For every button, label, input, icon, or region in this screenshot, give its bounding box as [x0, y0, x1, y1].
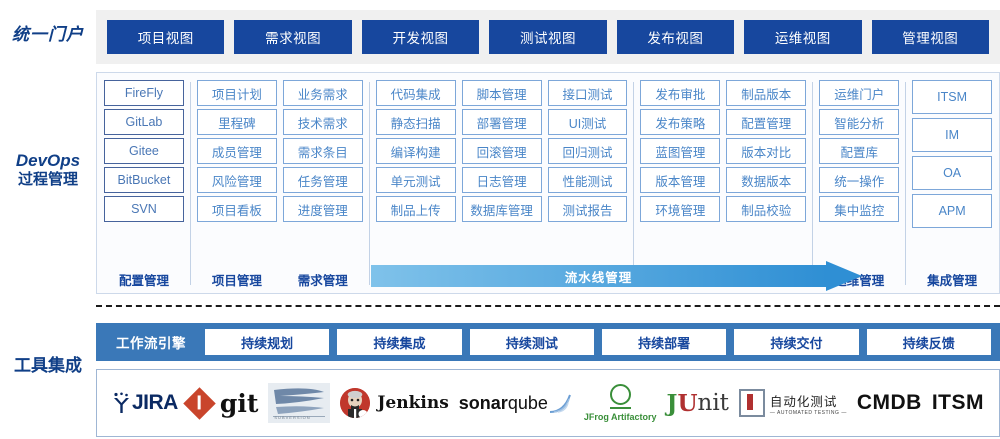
grid-cell[interactable]: SVN	[104, 196, 184, 222]
grid-column-release-management: 发布审批 发布策略 蓝图管理 版本管理 环境管理 发布管理	[637, 80, 723, 289]
subversion-logo: SUBVERSION	[268, 380, 330, 426]
grid-cell[interactable]: 回归测试	[548, 138, 628, 164]
itsm-logo: ITSM	[932, 380, 984, 426]
grid-cell[interactable]: 部署管理	[462, 109, 542, 135]
workflow-stage-continuous-integration[interactable]: 持续集成	[337, 329, 461, 355]
jfrog-ring-icon	[610, 384, 631, 405]
section-label-portal: 统一门户	[0, 24, 96, 45]
automated-testing-logo-subtext: — AUTOMATED TESTING —	[770, 410, 847, 416]
grid-column-requirement-management: 业务需求 技术需求 需求条目 任务管理 进度管理 需求管理	[280, 80, 366, 289]
workflow-stage-continuous-feedback[interactable]: 持续反馈	[867, 329, 991, 355]
grid-cell[interactable]: BitBucket	[104, 167, 184, 193]
grid-cell[interactable]: 编译构建	[376, 138, 456, 164]
tools-label-text: 工具集成	[0, 355, 96, 376]
grid-column-ct-pipeline: 接口测试 UI测试 回归测试 性能测试 测试报告 CT流水线	[545, 80, 631, 289]
pipeline-management-arrow: 流水线管理	[371, 265, 862, 287]
portal-label-text: 统一门户	[0, 24, 96, 45]
grid-cell[interactable]: 接口测试	[548, 80, 628, 106]
column-group-separator	[190, 82, 191, 285]
column-group-separator	[369, 82, 370, 285]
grid-column-cd-pipeline: 脚本管理 部署管理 回滚管理 日志管理 数据库管理 CD流水线	[459, 80, 545, 289]
git-logo: git	[188, 380, 259, 426]
section-label-tools: 工具集成	[0, 355, 96, 376]
junit-j: J	[667, 390, 678, 417]
grid-column-project-management: 项目计划 里程碑 成员管理 风险管理 项目看板 项目管理	[194, 80, 280, 289]
grid-cell[interactable]: 数据版本	[726, 167, 806, 193]
sonarqube-bold-part: sonar	[459, 393, 508, 413]
portal-view-button-operations[interactable]: 运维视图	[744, 20, 861, 54]
grid-cell[interactable]: 统一操作	[819, 167, 899, 193]
grid-cell[interactable]: 项目计划	[197, 80, 277, 106]
devops-label-line1: DevOps	[0, 150, 96, 171]
cmdb-logo: CMDB	[857, 380, 922, 426]
jfrog-bar-icon	[610, 407, 631, 409]
grid-cell[interactable]: UI测试	[548, 109, 628, 135]
grid-cell[interactable]: 静态扫描	[376, 109, 456, 135]
jfrog-logo-text: JFrog Artifactory	[584, 412, 657, 422]
git-diamond-icon	[183, 387, 216, 420]
grid-cell[interactable]: 制品上传	[376, 196, 456, 222]
grid-cell[interactable]: 任务管理	[283, 167, 363, 193]
workflow-engine-bar: 工作流引擎 持续规划 持续集成 持续测试 持续部署 持续交付 持续反馈	[96, 323, 1000, 361]
portal-view-button-management[interactable]: 管理视图	[872, 20, 989, 54]
jenkins-logo-text: Jenkins	[377, 393, 448, 413]
grid-cell[interactable]: 版本对比	[726, 138, 806, 164]
workflow-stage-continuous-delivery[interactable]: 持续交付	[734, 329, 858, 355]
arrow-head-icon	[826, 261, 862, 291]
grid-cell[interactable]: 需求条目	[283, 138, 363, 164]
grid-cell[interactable]: 集中监控	[819, 196, 899, 222]
grid-cell[interactable]: 性能测试	[548, 167, 628, 193]
grid-cell[interactable]: Gitee	[104, 138, 184, 164]
grid-cell[interactable]: 运维门户	[819, 80, 899, 106]
devops-capability-grid: FireFly GitLab Gitee BitBucket SVN 配置管理 …	[96, 72, 1000, 294]
jira-mark-icon	[112, 392, 131, 414]
grid-cell[interactable]: 代码集成	[376, 80, 456, 106]
grid-cell[interactable]: 单元测试	[376, 167, 456, 193]
portal-button-bar: 项目视图 需求视图 开发视图 测试视图 发布视图 运维视图 管理视图	[96, 10, 1000, 64]
grid-cell[interactable]: 项目看板	[197, 196, 277, 222]
tool-logo-strip: JIRA git SUBVERSION	[96, 369, 1000, 437]
jfrog-artifactory-logo: JFrog Artifactory	[584, 380, 657, 426]
grid-column-artifact-management: 制品版本 配置管理 版本对比 数据版本 制品校验 制品管理	[723, 80, 809, 289]
workflow-stage-continuous-deployment[interactable]: 持续部署	[602, 329, 726, 355]
automated-testing-logo-text: 自动化测试	[770, 391, 847, 410]
grid-cell[interactable]: 制品校验	[726, 196, 806, 222]
grid-cell[interactable]: 发布策略	[640, 109, 720, 135]
workflow-stage-continuous-testing[interactable]: 持续测试	[470, 329, 594, 355]
grid-cell[interactable]: OA	[912, 156, 992, 190]
grid-cell[interactable]: GitLab	[104, 109, 184, 135]
sonarqube-logo-text: sonarqube	[459, 393, 548, 414]
grid-cell[interactable]: 风险管理	[197, 167, 277, 193]
portal-view-button-project[interactable]: 项目视图	[107, 20, 224, 54]
grid-cell[interactable]: 回滚管理	[462, 138, 542, 164]
grid-cell[interactable]: 进度管理	[283, 196, 363, 222]
sonarqube-logo: sonarqube	[459, 380, 574, 426]
junit-logo: JUnit	[667, 380, 729, 426]
grid-cell[interactable]: 日志管理	[462, 167, 542, 193]
jira-logo-text: JIRA	[132, 391, 178, 415]
grid-column-header: 集成管理	[912, 268, 992, 289]
grid-cell[interactable]: APM	[912, 194, 992, 228]
grid-cell[interactable]: 脚本管理	[462, 80, 542, 106]
grid-cell[interactable]: 测试报告	[548, 196, 628, 222]
grid-cell[interactable]: 制品版本	[726, 80, 806, 106]
workflow-engine-title: 工作流引擎	[101, 332, 201, 352]
column-group-separator	[905, 82, 906, 285]
jira-logo: JIRA	[112, 380, 178, 426]
grid-cell[interactable]: 发布审批	[640, 80, 720, 106]
automated-testing-mark-icon	[739, 389, 765, 417]
portal-view-button-development[interactable]: 开发视图	[362, 20, 479, 54]
grid-cell[interactable]: 技术需求	[283, 109, 363, 135]
grid-cell[interactable]: 里程碑	[197, 109, 277, 135]
grid-column-ci-pipeline: 代码集成 静态扫描 编译构建 单元测试 制品上传 CI流水线	[373, 80, 459, 289]
sonarqube-wave-icon	[548, 392, 574, 414]
jenkins-butler-icon	[340, 388, 370, 418]
portal-view-button-test[interactable]: 测试视图	[489, 20, 606, 54]
grid-column-header: 需求管理	[283, 268, 363, 289]
junit-u: U	[677, 390, 697, 417]
column-group-separator	[812, 82, 813, 285]
grid-column-configuration-management: FireFly GitLab Gitee BitBucket SVN 配置管理	[101, 80, 187, 289]
grid-column-operations-management: 运维门户 智能分析 配置库 统一操作 集中监控 运维管理	[816, 80, 902, 289]
subversion-logo-text: SUBVERSION	[274, 415, 310, 420]
grid-column-header: 配置管理	[104, 268, 184, 289]
pipeline-arrow-label: 流水线管理	[371, 265, 826, 287]
grid-cell[interactable]: 业务需求	[283, 80, 363, 106]
portal-view-button-release[interactable]: 发布视图	[617, 20, 734, 54]
grid-cell[interactable]: 配置管理	[726, 109, 806, 135]
grid-cell[interactable]: ITSM	[912, 80, 992, 114]
grid-cell[interactable]: IM	[912, 118, 992, 152]
section-label-devops: DevOps 过程管理	[0, 150, 96, 190]
grid-cell[interactable]: 环境管理	[640, 196, 720, 222]
automated-testing-logo: 自动化测试 — AUTOMATED TESTING —	[739, 380, 847, 426]
grid-column-header: 项目管理	[197, 268, 277, 289]
grid-cell[interactable]: 数据库管理	[462, 196, 542, 222]
devops-label-line2: 过程管理	[0, 171, 96, 190]
grid-column-integration-management: ITSM IM OA APM 集成管理	[909, 80, 995, 289]
grid-cell[interactable]: 智能分析	[819, 109, 899, 135]
jenkins-logo: Jenkins	[340, 380, 448, 426]
devops-platform-diagram: 统一门户 项目视图 需求视图 开发视图 测试视图 发布视图 运维视图 管理视图 …	[0, 0, 1000, 439]
junit-rest: nit	[698, 390, 729, 416]
sonarqube-light-part: qube	[508, 393, 548, 413]
grid-cell[interactable]: FireFly	[104, 80, 184, 106]
git-logo-text: git	[220, 389, 259, 418]
portal-view-button-requirement[interactable]: 需求视图	[234, 20, 351, 54]
section-divider	[96, 305, 1000, 307]
grid-cell[interactable]: 配置库	[819, 138, 899, 164]
grid-cell[interactable]: 版本管理	[640, 167, 720, 193]
grid-cell[interactable]: 成员管理	[197, 138, 277, 164]
grid-cell[interactable]: 蓝图管理	[640, 138, 720, 164]
workflow-stage-continuous-planning[interactable]: 持续规划	[205, 329, 329, 355]
column-group-separator	[633, 82, 634, 285]
